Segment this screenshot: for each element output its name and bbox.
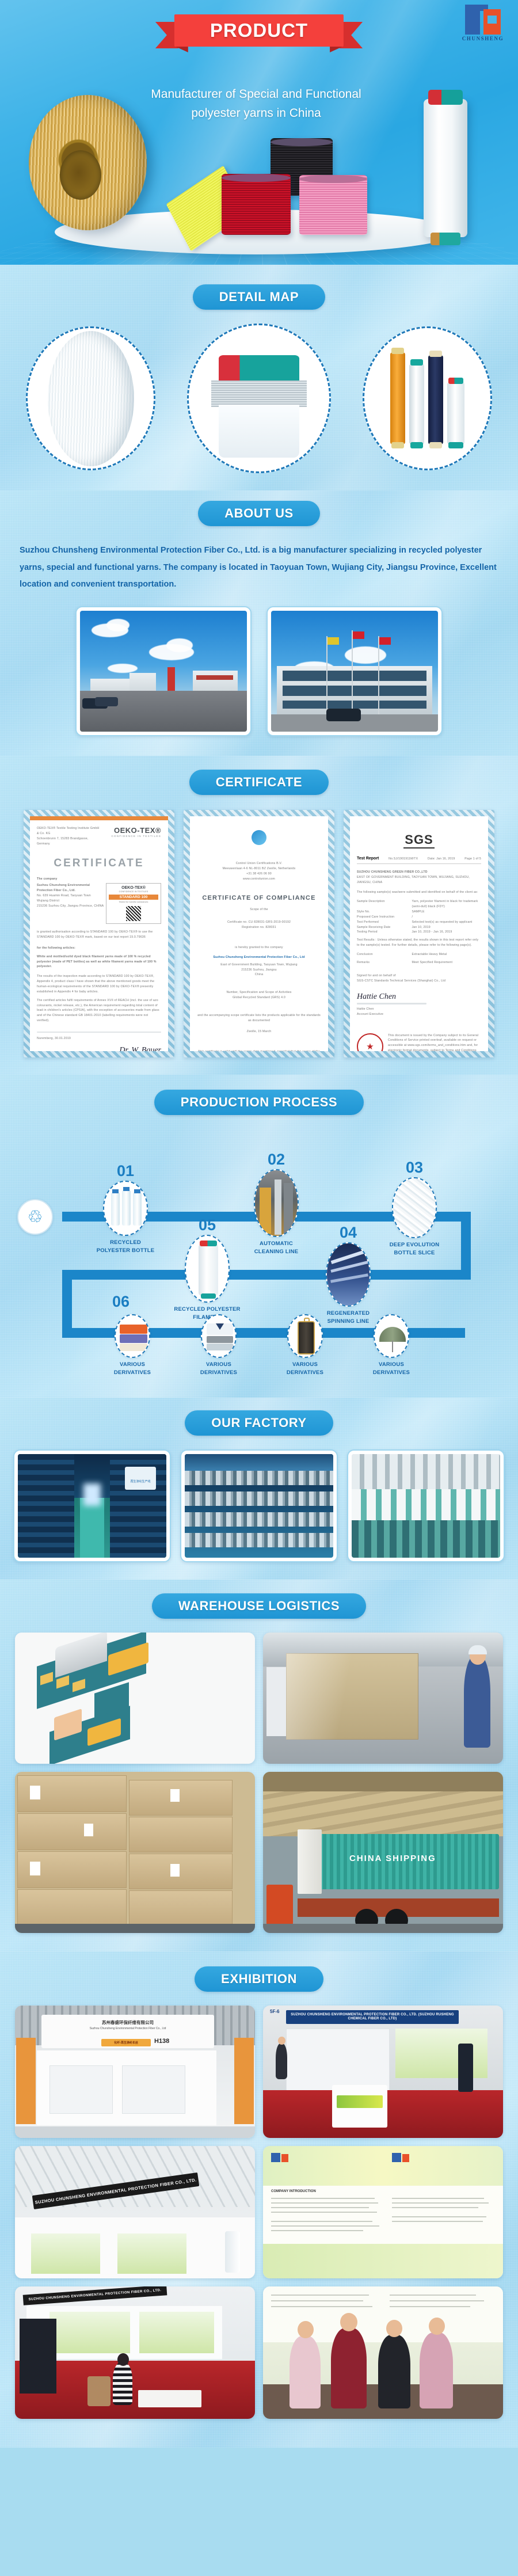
hero-title: PRODUCT: [174, 14, 344, 47]
hanging-sign-card: SUZHOU CHUNSHENG ENVIRONMENTAL PROTECTIO…: [15, 2146, 255, 2278]
production-process-header: PRODUCTION PROCESS: [0, 1090, 518, 1115]
umbrella: [374, 1314, 409, 1358]
yarn-bobbin: [185, 1235, 230, 1303]
factory-photo-frame-1: 再生涤纶生产线: [13, 1449, 171, 1562]
aisle-sign: SUZHOU CHUNSHENG ENVIRONMENTAL PROTECTIO…: [286, 2010, 459, 2024]
chunsheng-logo-icon: [465, 5, 501, 35]
section-about-us: ABOUT US Suzhou Chunsheng Environmental …: [0, 490, 518, 756]
stand-number: 5F-6: [270, 2009, 279, 2014]
sgs-rows: Sample DescriptionYarn, polyester filame…: [357, 899, 481, 965]
derivative-item-2: VARIOUS DERIVATIVES: [184, 1314, 253, 1378]
section-title-certificate: CERTIFICATE: [189, 770, 329, 795]
certificate-sgs-test-report[interactable]: SGS Test Report No.SJ/1901911M/TX Date: …: [344, 810, 494, 1057]
stacked-carton-pallets: [15, 1772, 255, 1933]
booth-exterior-card: 苏州春盛环保纤维有限公司 Suzhou Chunsheng Environmen…: [15, 2006, 255, 2138]
about-photo-row: [0, 593, 518, 736]
detail-item-bobbin-top: [187, 324, 331, 473]
warehouse-photo-grid: CHINA SHIPPING: [0, 1619, 518, 1933]
section-title-exhibition: EXHIBITION: [195, 1966, 323, 1992]
folded-towels: [115, 1314, 150, 1358]
spinning-workshop-aisle: 再生涤纶生产线: [18, 1454, 166, 1558]
booth-exterior-hall: 苏州春盛环保纤维有限公司 Suzhou Chunsheng Environmen…: [15, 2006, 255, 2138]
derivative-item-4: VARIOUS DERIVATIVES: [357, 1314, 426, 1378]
process-step-02: 02 AUTOMATIC CLEANING LINE: [242, 1152, 311, 1257]
red-seal-stamp: ★: [357, 1033, 383, 1052]
pet-flakes: [392, 1177, 437, 1238]
exhibition-photo-grid: 苏州春盛环保纤维有限公司 Suzhou Chunsheng Environmen…: [0, 1992, 518, 2419]
section-title-our-factory: OUR FACTORY: [185, 1410, 333, 1436]
company-introduction-panel: COMPANY INTRODUCTION: [263, 2146, 503, 2278]
booth-number: H138: [154, 2038, 169, 2045]
suitcase: [287, 1314, 323, 1358]
bobbin-top-closeup: [208, 338, 309, 459]
section-exhibition: EXHIBITION 苏州春盛环保纤维有限公司 Suzhou Chunsheng…: [0, 1951, 518, 2448]
process-step-05: 05 RECYCLED POLYESTER FILAMENT: [173, 1217, 242, 1322]
brand-logo: CHUNSHENG: [458, 5, 508, 41]
factory-gate-entrance: [80, 611, 247, 732]
warehouse-logistics-header: WAREHOUSE LOGISTICS: [0, 1593, 518, 1619]
our-factory-header: OUR FACTORY: [0, 1410, 518, 1436]
process-step-04: 04 REGENERATED SPINNING LINE: [314, 1225, 383, 1326]
about-us-header: ABOUT US: [0, 501, 518, 526]
booth-interior-card: SUZHOU CHUNSHENG ENVIRONMENTAL PROTECTIO…: [263, 2006, 503, 2138]
warehouse-illustration-card: [15, 1633, 255, 1764]
pallet-wrapping-card: [263, 1633, 503, 1764]
process-step-01: 01 RECYCLED POLYESTER BOTTLE: [91, 1163, 160, 1255]
certificate-row: OEKO-TEX® Textile Testing Institute GmbH…: [0, 795, 518, 1057]
hero-subtitle-line2: polyester yarns in China: [132, 104, 380, 123]
oeko-tex-heading: CERTIFICATE: [37, 857, 161, 870]
cleaning-line-machinery: [254, 1169, 299, 1237]
section-certificate: CERTIFICATE OEKO-TEX® Textile Testing In…: [0, 756, 518, 1075]
process-flow-diagram: ♲ 01 RECYCLED POLYESTER BOTTLE: [0, 1124, 518, 1386]
team-photo-card: [263, 2286, 503, 2419]
panel-title: COMPANY INTRODUCTION: [271, 2190, 316, 2193]
company-introduction-card: COMPANY INTRODUCTION: [263, 2146, 503, 2278]
detail-item-flat-yarn: [26, 326, 155, 470]
factory-photo-frame-3: [347, 1449, 505, 1562]
detail-map-items: [0, 310, 518, 473]
section-warehouse-logistics: WAREHOUSE LOGISTICS: [0, 1580, 518, 1951]
section-title-warehouse-logistics: WAREHOUSE LOGISTICS: [152, 1593, 366, 1619]
pallet-wrapping-worker: [263, 1633, 503, 1764]
product-ribbon: PRODUCT: [174, 14, 344, 47]
pink-bobbin: [299, 175, 367, 235]
section-our-factory: OUR FACTORY 再生涤纶生产线: [0, 1398, 518, 1580]
sgs-logo: SGS: [403, 832, 434, 848]
hero-subtitle-line1: Manufacturer of Special and Functional: [132, 85, 380, 104]
white-yarn-cone: [424, 99, 467, 237]
stacked-cartons-card: [15, 1772, 255, 1933]
recycle-icon: ♲: [17, 1199, 53, 1235]
section-detail-map: DETAIL MAP: [0, 265, 518, 490]
bobbin-racks-row: [185, 1454, 333, 1558]
about-photo-frame-1: [75, 606, 252, 736]
section-title-about-us: ABOUT US: [198, 501, 320, 526]
factory-photo-frame-2: [180, 1449, 338, 1562]
hanging-booth-sign: SUZHOU CHUNSHENG ENVIRONMENTAL PROTECTIO…: [15, 2146, 255, 2278]
brand-logo-text: CHUNSHENG: [458, 36, 508, 41]
flow-track-mid: [62, 1270, 471, 1280]
certificate-oeko-tex[interactable]: OEKO-TEX® Textile Testing Institute GmbH…: [24, 810, 174, 1057]
section-title-production-process: PRODUCTION PROCESS: [154, 1090, 364, 1115]
red-bobbin: [222, 174, 291, 235]
hero-banner: CHUNSHENG PRODUCT Manufacturer of Specia…: [0, 0, 518, 265]
plastic-bottles: [103, 1181, 148, 1236]
product-detail-page: CHUNSHENG PRODUCT Manufacturer of Specia…: [0, 0, 518, 2448]
winding-machines-closeup: [352, 1454, 500, 1558]
certificate-header: CERTIFICATE: [0, 770, 518, 795]
process-step-03: 03 DEEP EVOLUTION BOTTLE SLICE: [380, 1160, 449, 1258]
colored-yarn-cones: [390, 352, 464, 444]
container-label: CHINA SHIPPING: [349, 1854, 436, 1863]
spinning-line-hall: [326, 1242, 371, 1307]
detail-item-colored-cones: [363, 326, 492, 470]
workshop-sign: 再生涤纶生产线: [125, 1467, 156, 1490]
section-production-process: PRODUCTION PROCESS ♲ 01: [0, 1075, 518, 1398]
derivative-item-1: VARIOUS DERIVATIVES: [98, 1314, 167, 1378]
process-step-06-number: 06: [112, 1294, 129, 1310]
folded-shirts: [201, 1314, 237, 1358]
booth-staff-at-desk: SUZHOU CHUNSHENG ENVIRONMENTAL PROTECTIO…: [15, 2286, 255, 2419]
section-title-detail-map: DETAIL MAP: [193, 284, 325, 310]
oeko-tex-stamp: OEKO-TEX® CONFIDENCE IN TEXTILES STANDAR…: [106, 883, 161, 924]
booth-staff-card: SUZHOU CHUNSHENG ENVIRONMENTAL PROTECTIO…: [15, 2286, 255, 2419]
team-with-visitors-photo: [263, 2286, 503, 2419]
derivative-item-3: VARIOUS DERIVATIVES: [271, 1314, 340, 1378]
exhibition-header: EXHIBITION: [0, 1966, 518, 1992]
warehouse-logistics-isometric-illustration: [15, 1633, 255, 1764]
detail-map-header: DETAIL MAP: [0, 284, 518, 310]
container-loading-china-shipping: CHINA SHIPPING: [263, 1772, 503, 1933]
oeko-tex-brand: OEKO-TEX® CONFIDENCE IN TEXTILES: [111, 826, 161, 838]
compliance-heading: CERTIFICATE OF COMPLIANCE: [197, 895, 321, 901]
flat-polyester-yarn-closeup: [48, 331, 134, 466]
factory-photo-row: 再生涤纶生产线: [0, 1436, 518, 1562]
about-photo-frame-2: [266, 606, 443, 736]
booth-interior-visitors: SUZHOU CHUNSHENG ENVIRONMENTAL PROTECTIO…: [263, 2006, 503, 2138]
office-building-with-flags: [271, 611, 438, 732]
about-us-paragraph: Suzhou Chunsheng Environmental Protectio…: [0, 526, 518, 593]
certificate-of-compliance[interactable]: Control Union Certifications B.V. Meeuwe…: [184, 810, 334, 1057]
container-loading-card: CHINA SHIPPING: [263, 1772, 503, 1933]
